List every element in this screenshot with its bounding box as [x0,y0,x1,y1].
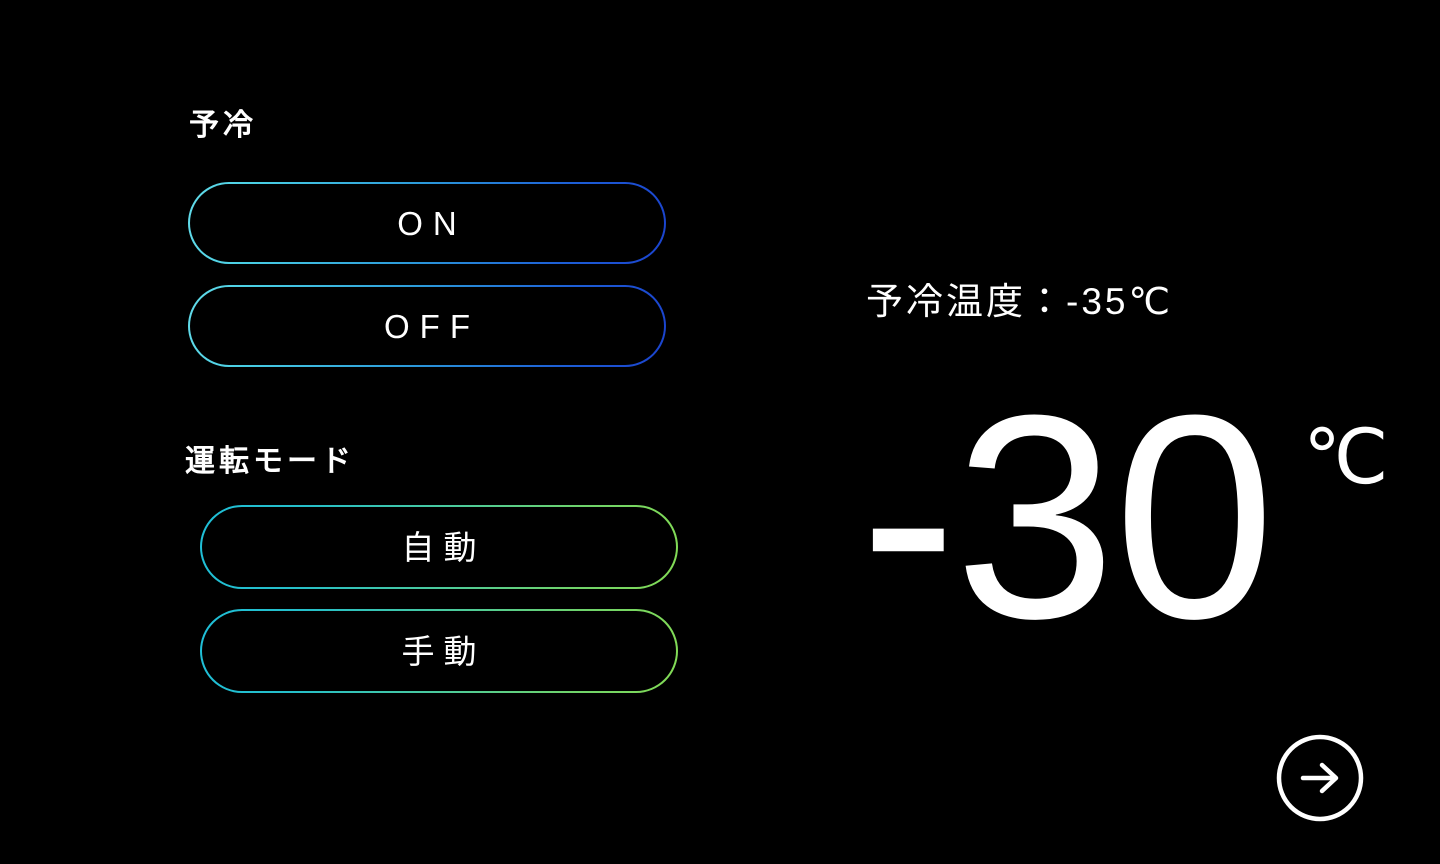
mode-manual-label: 手動 [393,635,486,668]
control-panel-screen: 予冷 ON OFF 運転モード 自動 手動 予冷温度：-35℃ -30 ℃ [0,0,1440,864]
arrow-right-circle-icon [1276,734,1364,822]
mode-auto-button[interactable]: 自動 [200,505,678,589]
mode-auto-label: 自動 [393,531,486,564]
current-temperature-value: -30 [860,404,1273,630]
current-temperature-display: -30 ℃ [860,404,1389,630]
precool-on-button[interactable]: ON [188,182,666,264]
mode-auto-button-inner: 自動 [202,507,676,587]
mode-manual-button[interactable]: 手動 [200,609,678,693]
mode-manual-button-inner: 手動 [202,611,676,691]
precool-section-label: 予冷 [189,111,257,141]
precool-off-button[interactable]: OFF [188,285,666,367]
current-temperature-unit: ℃ [1303,420,1388,496]
precool-off-button-inner: OFF [190,287,664,365]
precool-on-button-inner: ON [190,184,664,262]
operation-mode-section-label: 運転モード [185,447,355,477]
precool-off-label: OFF [374,310,480,343]
precool-on-label: ON [387,207,467,240]
next-button[interactable] [1276,734,1364,822]
precool-temperature-readout: 予冷温度：-35℃ [866,283,1173,320]
